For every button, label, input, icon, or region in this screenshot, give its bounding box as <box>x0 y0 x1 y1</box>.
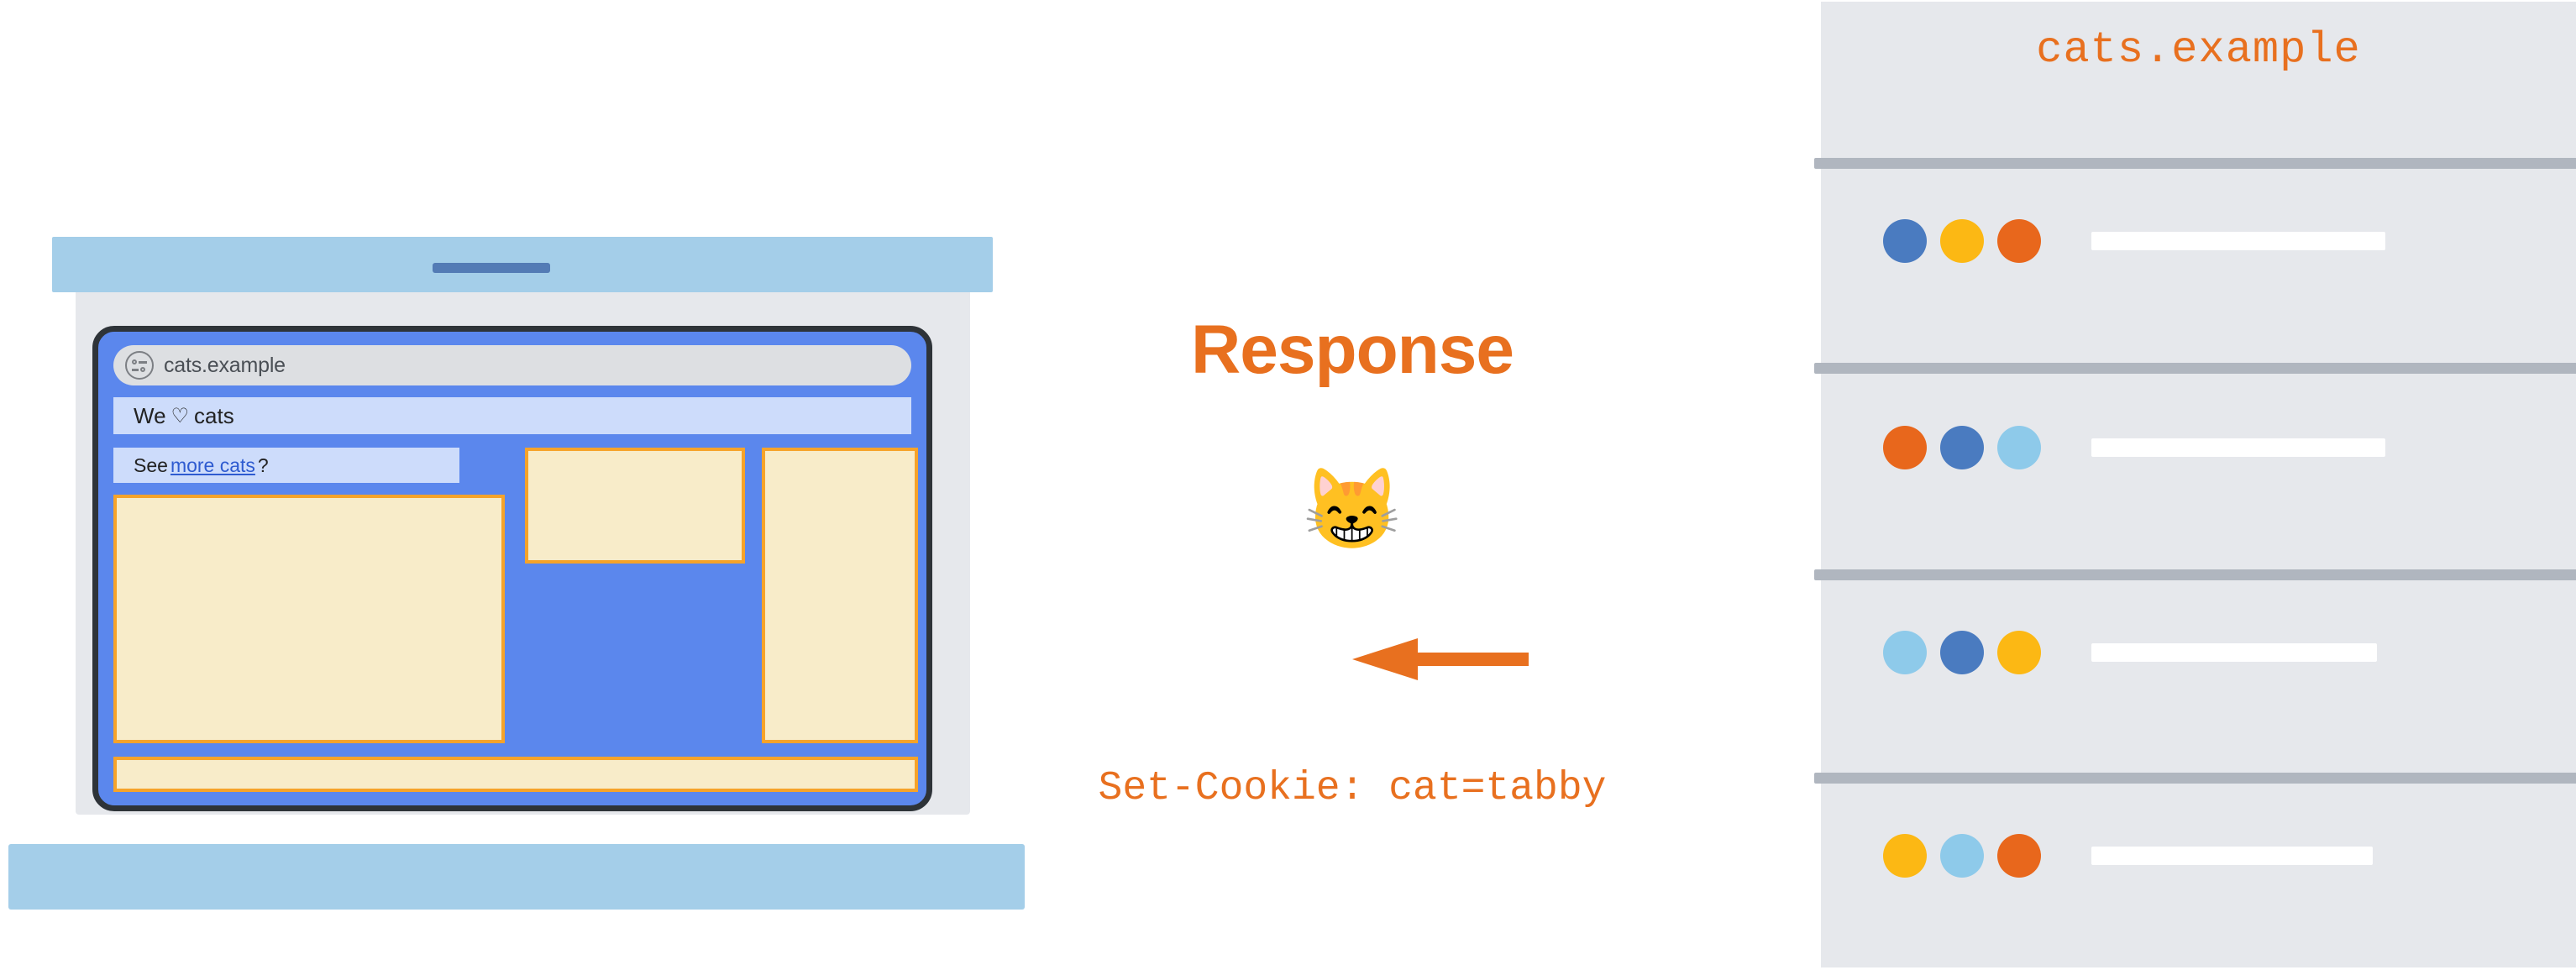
server-item-dot <box>1883 834 1927 878</box>
link-prefix: See <box>134 454 168 477</box>
server-title: cats.example <box>1821 25 2576 75</box>
response-column: Response 😸 Set-Cookie: cat=tabby <box>1092 0 1806 970</box>
footer-content-block <box>113 757 918 792</box>
server-item-dot <box>1940 834 1984 878</box>
set-cookie-header: Set-Cookie: cat=tabby <box>995 766 1709 811</box>
server-row-text-line <box>2091 438 2385 457</box>
server-panel: cats.example <box>1821 2 2576 967</box>
grinning-cat-face-icon: 😸 <box>995 470 1709 550</box>
server-item-dot <box>1940 219 1984 263</box>
link-suffix: ? <box>258 454 269 477</box>
laptop-illustration: cats.example We ♡ cats See more cats ? <box>0 0 1092 970</box>
browser-url-bar[interactable]: cats.example <box>113 345 911 385</box>
more-cats-link[interactable]: more cats <box>171 454 255 477</box>
see-more-cats-line: See more cats ? <box>113 448 459 483</box>
page-headline: We ♡ cats <box>113 397 911 434</box>
server-item-dot <box>1997 834 2041 878</box>
server-item-dot <box>1883 631 1927 674</box>
browser-body: See more cats ? <box>113 448 911 779</box>
response-title: Response <box>995 311 1709 390</box>
top-middle-content-block <box>525 448 745 564</box>
url-text: cats.example <box>164 354 286 378</box>
server-row <box>1821 623 2576 682</box>
server-item-dot <box>1997 219 2041 263</box>
left-arrow-icon <box>1352 638 1529 680</box>
arrow-head <box>1352 638 1418 680</box>
heart-icon: ♡ <box>171 404 190 428</box>
server-divider <box>1814 158 2576 169</box>
server-row-text-line <box>2091 643 2377 662</box>
server-item-dot <box>1940 631 1984 674</box>
server-divider <box>1814 569 2576 580</box>
laptop-camera-scribble <box>433 263 550 273</box>
laptop-base <box>8 844 1025 910</box>
server-row-text-line <box>2091 232 2385 250</box>
arrow-shaft <box>1415 653 1529 666</box>
server-row <box>1821 826 2576 885</box>
server-row <box>1821 418 2576 477</box>
server-row-text-line <box>2091 847 2373 865</box>
main-content-block <box>113 495 505 743</box>
server-item-dot <box>1883 426 1927 469</box>
site-settings-icon[interactable] <box>125 351 154 380</box>
server-row <box>1821 212 2576 270</box>
server-item-dot <box>1997 426 2041 469</box>
right-sidebar-content-block <box>762 448 918 743</box>
server-item-dot <box>1997 631 2041 674</box>
server-divider <box>1814 363 2576 374</box>
browser-window: cats.example We ♡ cats See more cats ? <box>92 326 932 811</box>
headline-prefix: We <box>134 403 166 429</box>
server-item-dot <box>1940 426 1984 469</box>
server-item-dot <box>1883 219 1927 263</box>
server-divider <box>1814 773 2576 784</box>
headline-suffix: cats <box>194 403 234 429</box>
